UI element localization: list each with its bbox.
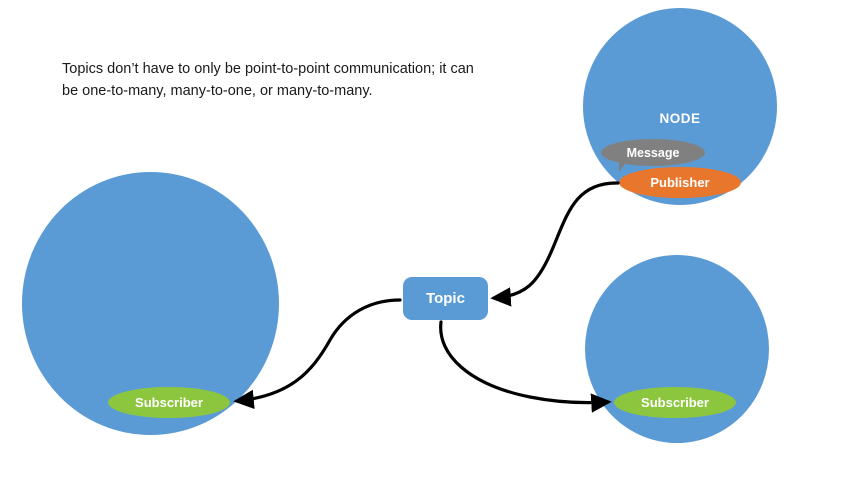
node-label-left: NODE [22,467,279,480]
message-bubble[interactable]: Message [601,139,705,166]
caption-text: Topics don’t have to only be point-to-po… [62,58,482,103]
arrow-topic-to-bottom-right-subscriber [441,322,608,403]
subscriber-pill-left[interactable]: Subscriber [108,387,230,418]
subscriber-pill-bottom-right[interactable]: Subscriber [614,387,736,418]
node-label-top-right: NODE [583,111,777,126]
publisher-pill[interactable]: Publisher [619,167,741,198]
diagram-canvas: Topics don’t have to only be point-to-po… [0,0,854,480]
topic-box[interactable]: Topic [403,277,488,320]
arrow-publisher-to-topic [494,183,618,298]
